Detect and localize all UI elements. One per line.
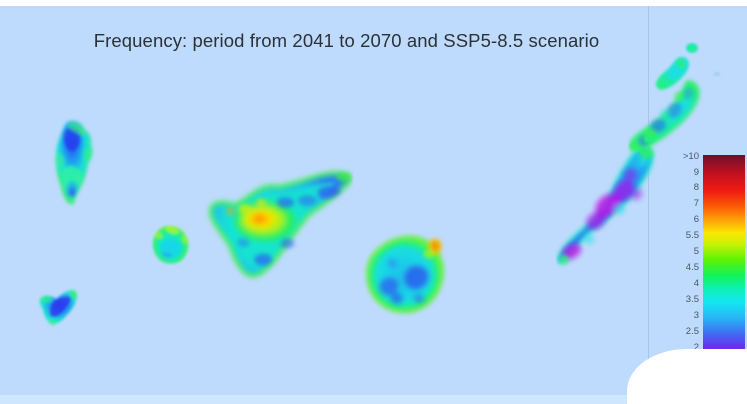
colorbar-tick-4: 6	[694, 215, 699, 225]
colorbar-tick-8: 4	[694, 279, 699, 289]
colorbar-tick-1: 9	[694, 168, 699, 178]
islet-speck	[712, 70, 722, 78]
islet-lobos	[641, 131, 657, 147]
island-gran-canaria	[359, 230, 451, 322]
colorbar-gradient-ramp	[703, 155, 745, 378]
colorbar-tick-0: >10	[683, 152, 699, 162]
colorbar-tick-3: 7	[694, 199, 699, 209]
colorbar-tick-9: 3.5	[686, 295, 699, 305]
colorbar-tick-11: 2.5	[686, 327, 699, 337]
colorbar-tick-10: 3	[694, 311, 699, 321]
map-title: Frequency: period from 2041 to 2070 and …	[0, 30, 693, 52]
colorbar-tick-6: 5	[694, 247, 699, 257]
island-lanzarote-north-lobe	[648, 52, 696, 102]
island-tenerife	[203, 163, 353, 288]
colorbar-tick-5: 5.5	[686, 231, 699, 241]
figure-canvas: Frequency: period from 2041 to 2070 and …	[0, 0, 747, 404]
colorbar-tick-7: 4.5	[686, 263, 699, 273]
island-el-hierro	[33, 284, 85, 330]
island-la-gomera	[146, 221, 194, 269]
island-la-palma	[44, 118, 106, 208]
colorbar-tick-2: 8	[694, 183, 699, 193]
